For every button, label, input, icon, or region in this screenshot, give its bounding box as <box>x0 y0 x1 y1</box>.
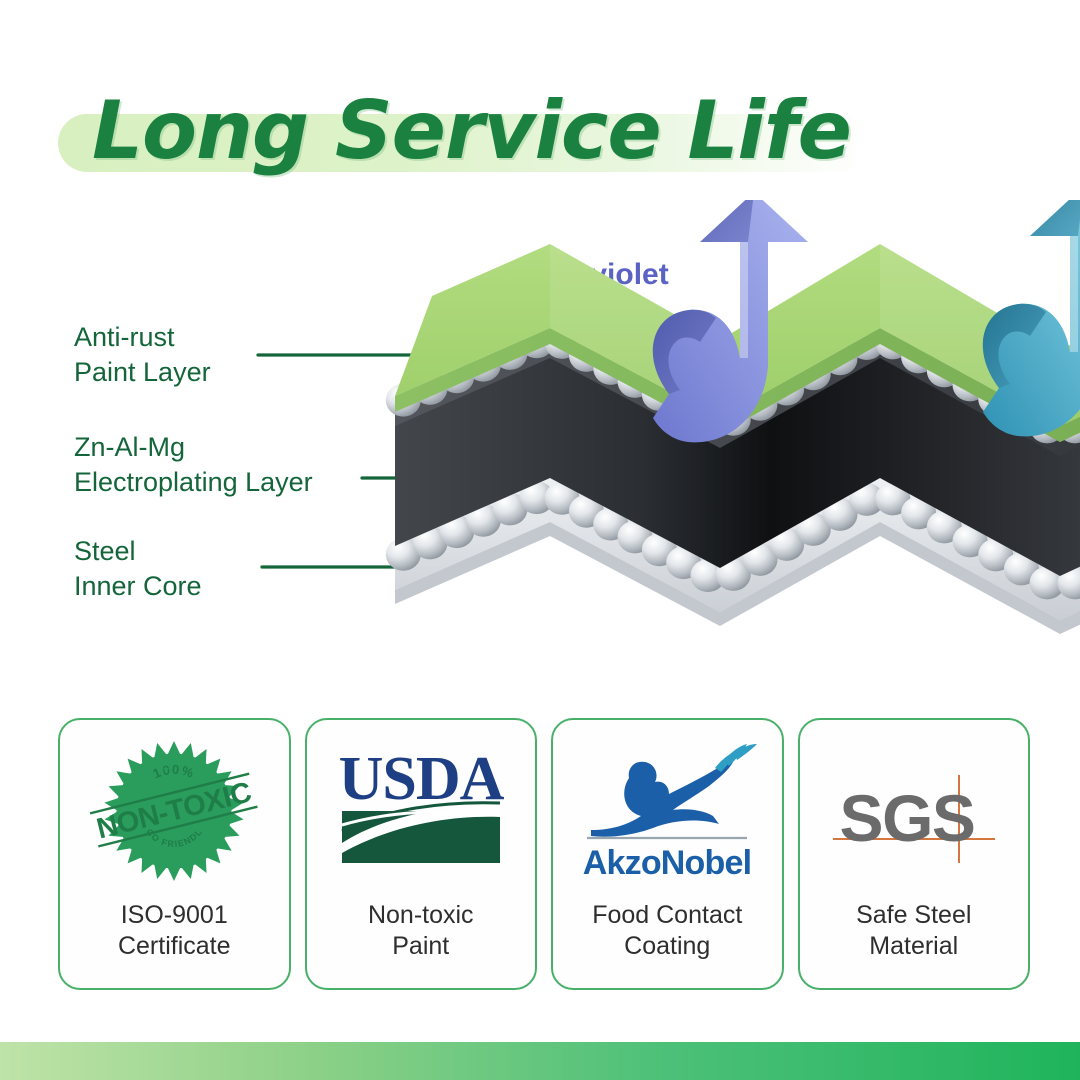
badge-akzonobel[interactable]: AkzoNobel Food Contact Coating <box>551 718 784 990</box>
title-text: Long Service Life <box>92 84 851 177</box>
page-title: Long Service Life <box>0 88 1080 188</box>
badge-caption-sgs: Safe Steel Material <box>856 900 971 962</box>
label-zn-al-mg-electroplating-layer: Zn-Al-Mg Electroplating Layer <box>74 430 313 500</box>
certification-badge-row: 100% ECO FRIENDLY NON-TOXIC <box>58 718 1030 990</box>
badge-caption-akzonobel: Food Contact Coating <box>592 900 742 962</box>
sgs-logo-icon: SGS <box>800 730 1029 898</box>
badge-usda[interactable]: USDA Non-toxic Paint <box>305 718 538 990</box>
footer-gradient-bar <box>0 1042 1080 1080</box>
badge-caption-iso-9001: ISO-9001 Certificate <box>118 900 231 962</box>
label-anti-rust-paint-layer: Anti-rust Paint Layer <box>74 320 211 390</box>
label-steel-inner-core: Steel Inner Core <box>74 534 202 604</box>
akzonobel-figure <box>591 744 757 837</box>
usda-field <box>342 803 500 863</box>
gas-emissions-arrow <box>983 200 1080 436</box>
badge-sgs[interactable]: SGS Safe Steel Material <box>798 718 1031 990</box>
usda-logo-icon: USDA <box>307 730 536 898</box>
akzonobel-logo-icon: AkzoNobel <box>553 730 782 898</box>
non-toxic-stamp-icon: 100% ECO FRIENDLY NON-TOXIC <box>60 730 289 898</box>
badge-caption-usda: Non-toxic Paint <box>368 900 474 962</box>
akzonobel-wordmark: AkzoNobel <box>583 844 751 882</box>
layer-stack-diagram <box>360 200 1080 670</box>
sgs-wordmark: SGS <box>839 781 974 855</box>
infographic-canvas: Long Service Life Anti-rust Paint Layer … <box>0 0 1080 1080</box>
badge-iso-9001[interactable]: 100% ECO FRIENDLY NON-TOXIC <box>58 718 291 990</box>
